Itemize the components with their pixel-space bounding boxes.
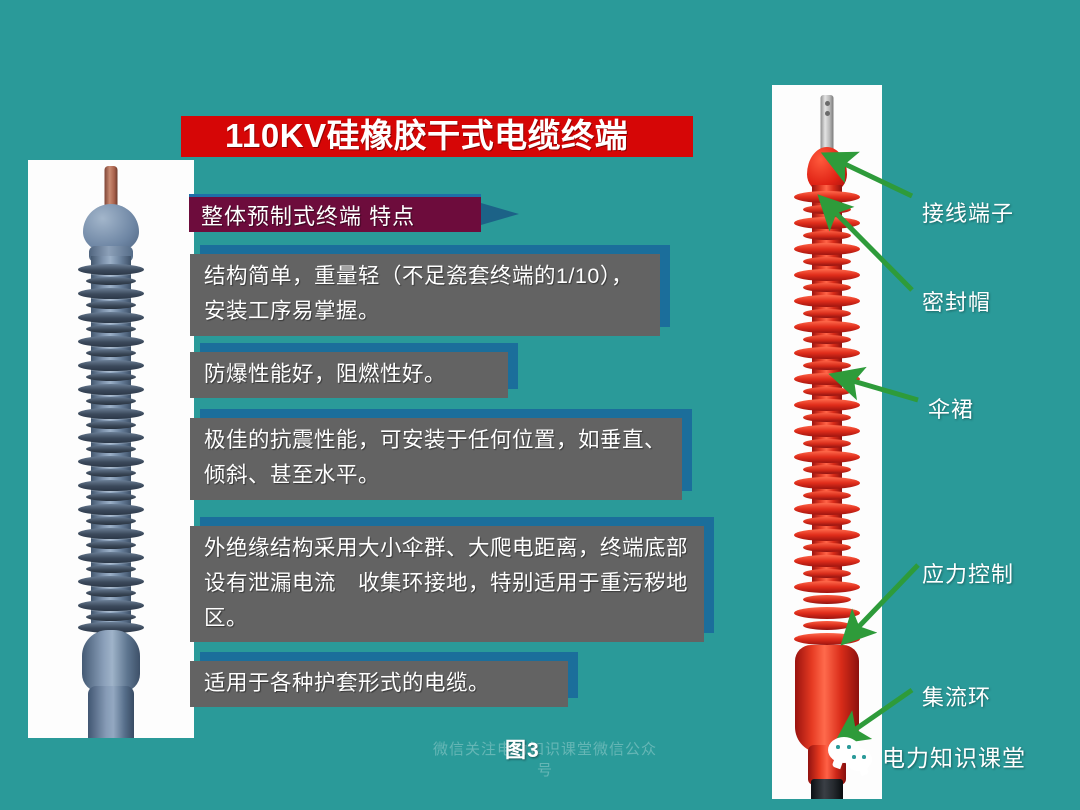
left-shed xyxy=(78,576,144,587)
right-shed xyxy=(794,503,860,515)
left-shed xyxy=(86,469,136,477)
right-shed xyxy=(803,283,851,292)
wechat-eye xyxy=(836,745,840,749)
right-shed xyxy=(794,633,860,645)
right-shed xyxy=(794,243,860,255)
subtitle-label: 整体预制式终端 特点 xyxy=(201,199,415,231)
right-shed xyxy=(803,361,851,370)
left-shed xyxy=(86,349,136,357)
right-shed xyxy=(794,321,860,333)
left-shed xyxy=(78,600,144,611)
left-shed xyxy=(86,517,136,525)
right-shed xyxy=(794,555,860,567)
wechat-eye xyxy=(852,755,856,759)
right-shed xyxy=(794,269,860,281)
right-shed xyxy=(803,595,851,604)
right-shed xyxy=(803,543,851,552)
left-shed xyxy=(78,456,144,467)
feature-box-body: 结构简单，重量轻（不足瓷套终端的1/10），安装工序易掌握。 xyxy=(190,254,660,336)
right-shed xyxy=(794,529,860,541)
callout-label-sealing-cap: 密封帽 xyxy=(922,285,991,317)
left-shed xyxy=(78,552,144,563)
left-shed xyxy=(78,360,144,371)
right-shed xyxy=(794,295,860,307)
feature-box-body: 适用于各种护套形式的电缆。 xyxy=(190,661,568,707)
right-shed xyxy=(803,309,851,318)
left-shed xyxy=(86,301,136,309)
subtitle-box: 整体预制式终端 特点 xyxy=(189,194,481,232)
left-shed xyxy=(86,325,136,333)
feature-box-body: 极佳的抗震性能，可安装于任何位置，如垂直、倾斜、甚至水平。 xyxy=(190,418,682,500)
left-shed xyxy=(78,480,144,491)
subtitle-pointer-icon xyxy=(481,203,519,225)
figure-caption: 图3 xyxy=(505,734,540,764)
photo-right-artwork xyxy=(772,85,882,799)
right-shed xyxy=(803,413,851,422)
left-shed xyxy=(86,397,136,405)
left-shed xyxy=(86,565,136,573)
right-shed xyxy=(803,465,851,474)
wechat-icon xyxy=(828,737,874,775)
brand-name: 电力知识课堂 xyxy=(882,739,1026,773)
slide-canvas: 110KV硅橡胶干式电缆终端 整体预制式终端 特点 结构简单，重量轻（不足瓷套终… xyxy=(0,0,1080,810)
lug-hole xyxy=(825,101,830,106)
left-shed xyxy=(86,613,136,621)
photo-right-termination xyxy=(772,85,882,799)
left-shed xyxy=(78,312,144,323)
callout-label-terminal: 接线端子 xyxy=(922,196,1014,228)
right-shed xyxy=(794,373,860,385)
right-shed xyxy=(803,335,851,344)
left-shed xyxy=(78,288,144,299)
right-shed xyxy=(794,477,860,489)
wechat-bubble-small xyxy=(845,748,872,771)
feature-box: 防爆性能好，阻燃性好。 xyxy=(190,352,508,398)
right-shed xyxy=(794,399,860,411)
callout-label-collection-ring: 集流环 xyxy=(922,680,991,712)
right-shed xyxy=(803,387,851,396)
photo-left-termination xyxy=(28,160,194,738)
left-shed xyxy=(78,504,144,515)
left-shed xyxy=(86,421,136,429)
wechat-eye xyxy=(862,755,866,759)
left-lower-body xyxy=(88,686,134,738)
wechat-eye xyxy=(847,745,851,749)
left-shed xyxy=(86,493,136,501)
right-shed xyxy=(794,451,860,463)
brand-badge: 电力知识课堂 xyxy=(828,737,1026,775)
right-shed xyxy=(803,439,851,448)
callout-label-stress-control: 应力控制 xyxy=(922,557,1014,589)
feature-text: 极佳的抗震性能，可安装于任何位置，如垂直、倾斜、甚至水平。 xyxy=(204,423,668,493)
left-shed xyxy=(86,373,136,381)
right-shed xyxy=(803,257,851,266)
right-shed xyxy=(794,191,860,203)
left-shed xyxy=(78,336,144,347)
feature-box-body: 防爆性能好，阻燃性好。 xyxy=(190,352,508,398)
right-shed xyxy=(803,517,851,526)
left-shed xyxy=(78,432,144,443)
left-shed xyxy=(78,264,144,275)
right-shed xyxy=(803,205,851,214)
feature-text: 结构简单，重量轻（不足瓷套终端的1/10），安装工序易掌握。 xyxy=(204,259,646,329)
feature-box: 极佳的抗震性能，可安装于任何位置，如垂直、倾斜、甚至水平。 xyxy=(190,418,682,500)
photo-left-artwork xyxy=(28,160,194,738)
left-shed xyxy=(86,277,136,285)
right-shed xyxy=(794,607,860,619)
page-title: 110KV硅橡胶干式电缆终端 xyxy=(181,112,861,160)
feature-box: 外绝缘结构采用大小伞群、大爬电距离，终端底部设有泄漏电流 收集环接地，特别适用于… xyxy=(190,526,704,642)
watermark-text: 微信关注电力知识课堂微信公众号 xyxy=(430,738,660,780)
right-shed xyxy=(794,347,860,359)
right-cable xyxy=(811,779,843,799)
left-sealing-cap xyxy=(83,204,139,252)
right-shed xyxy=(803,231,851,240)
right-shed xyxy=(794,581,860,593)
feature-box: 结构简单，重量轻（不足瓷套终端的1/10），安装工序易掌握。 xyxy=(190,254,660,336)
left-shed xyxy=(78,408,144,419)
left-shed xyxy=(86,541,136,549)
feature-box-body: 外绝缘结构采用大小伞群、大爬电距离，终端底部设有泄漏电流 收集环接地，特别适用于… xyxy=(190,526,704,642)
feature-text: 防爆性能好，阻燃性好。 xyxy=(204,357,446,392)
left-shed xyxy=(78,528,144,539)
right-shed xyxy=(803,491,851,500)
right-shed xyxy=(794,217,860,229)
feature-box: 适用于各种护套形式的电缆。 xyxy=(190,661,568,707)
left-stress-cone-body xyxy=(82,630,140,692)
callout-label-shed: 伞裙 xyxy=(928,392,974,424)
right-shed xyxy=(794,425,860,437)
right-shed xyxy=(803,569,851,578)
left-shed xyxy=(86,445,136,453)
feature-text: 外绝缘结构采用大小伞群、大爬电距离，终端底部设有泄漏电流 收集环接地，特别适用于… xyxy=(204,531,690,636)
feature-text: 适用于各种护套形式的电缆。 xyxy=(204,666,490,701)
right-shed xyxy=(803,621,851,630)
left-shed xyxy=(78,384,144,395)
left-shed xyxy=(86,589,136,597)
